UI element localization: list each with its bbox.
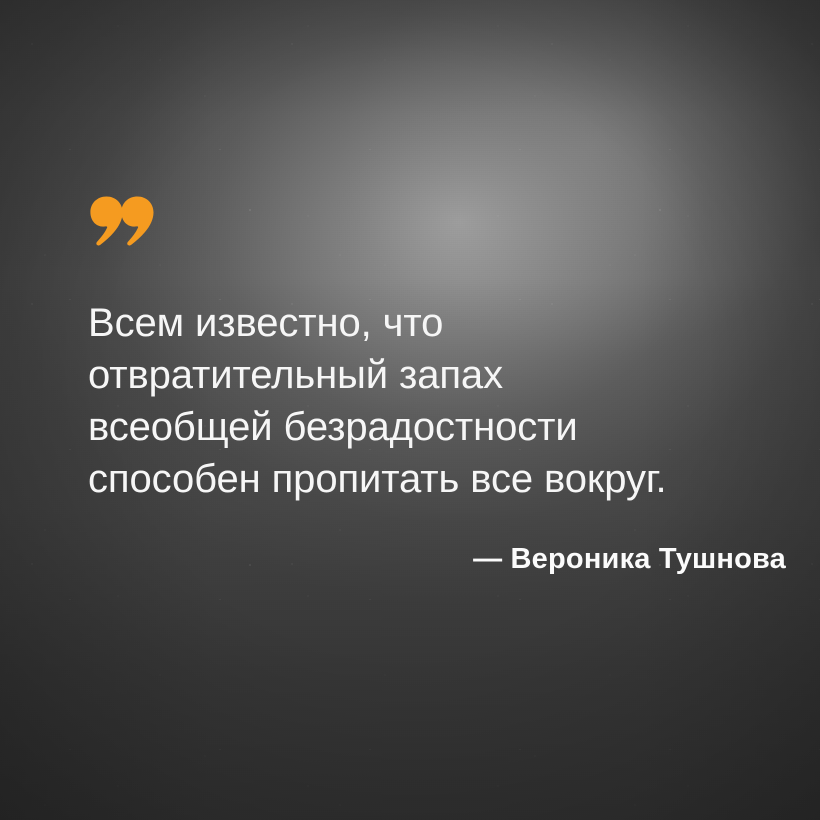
card-content: Всем известно, что отвратительный запах … bbox=[0, 0, 820, 820]
quote-text: Всем известно, что отвратительный запах … bbox=[88, 297, 788, 505]
quote-attribution: — Вероника Тушнова bbox=[88, 540, 786, 578]
quote-card: Всем известно, что отвратительный запах … bbox=[0, 0, 820, 820]
double-quote-icon bbox=[90, 196, 154, 246]
